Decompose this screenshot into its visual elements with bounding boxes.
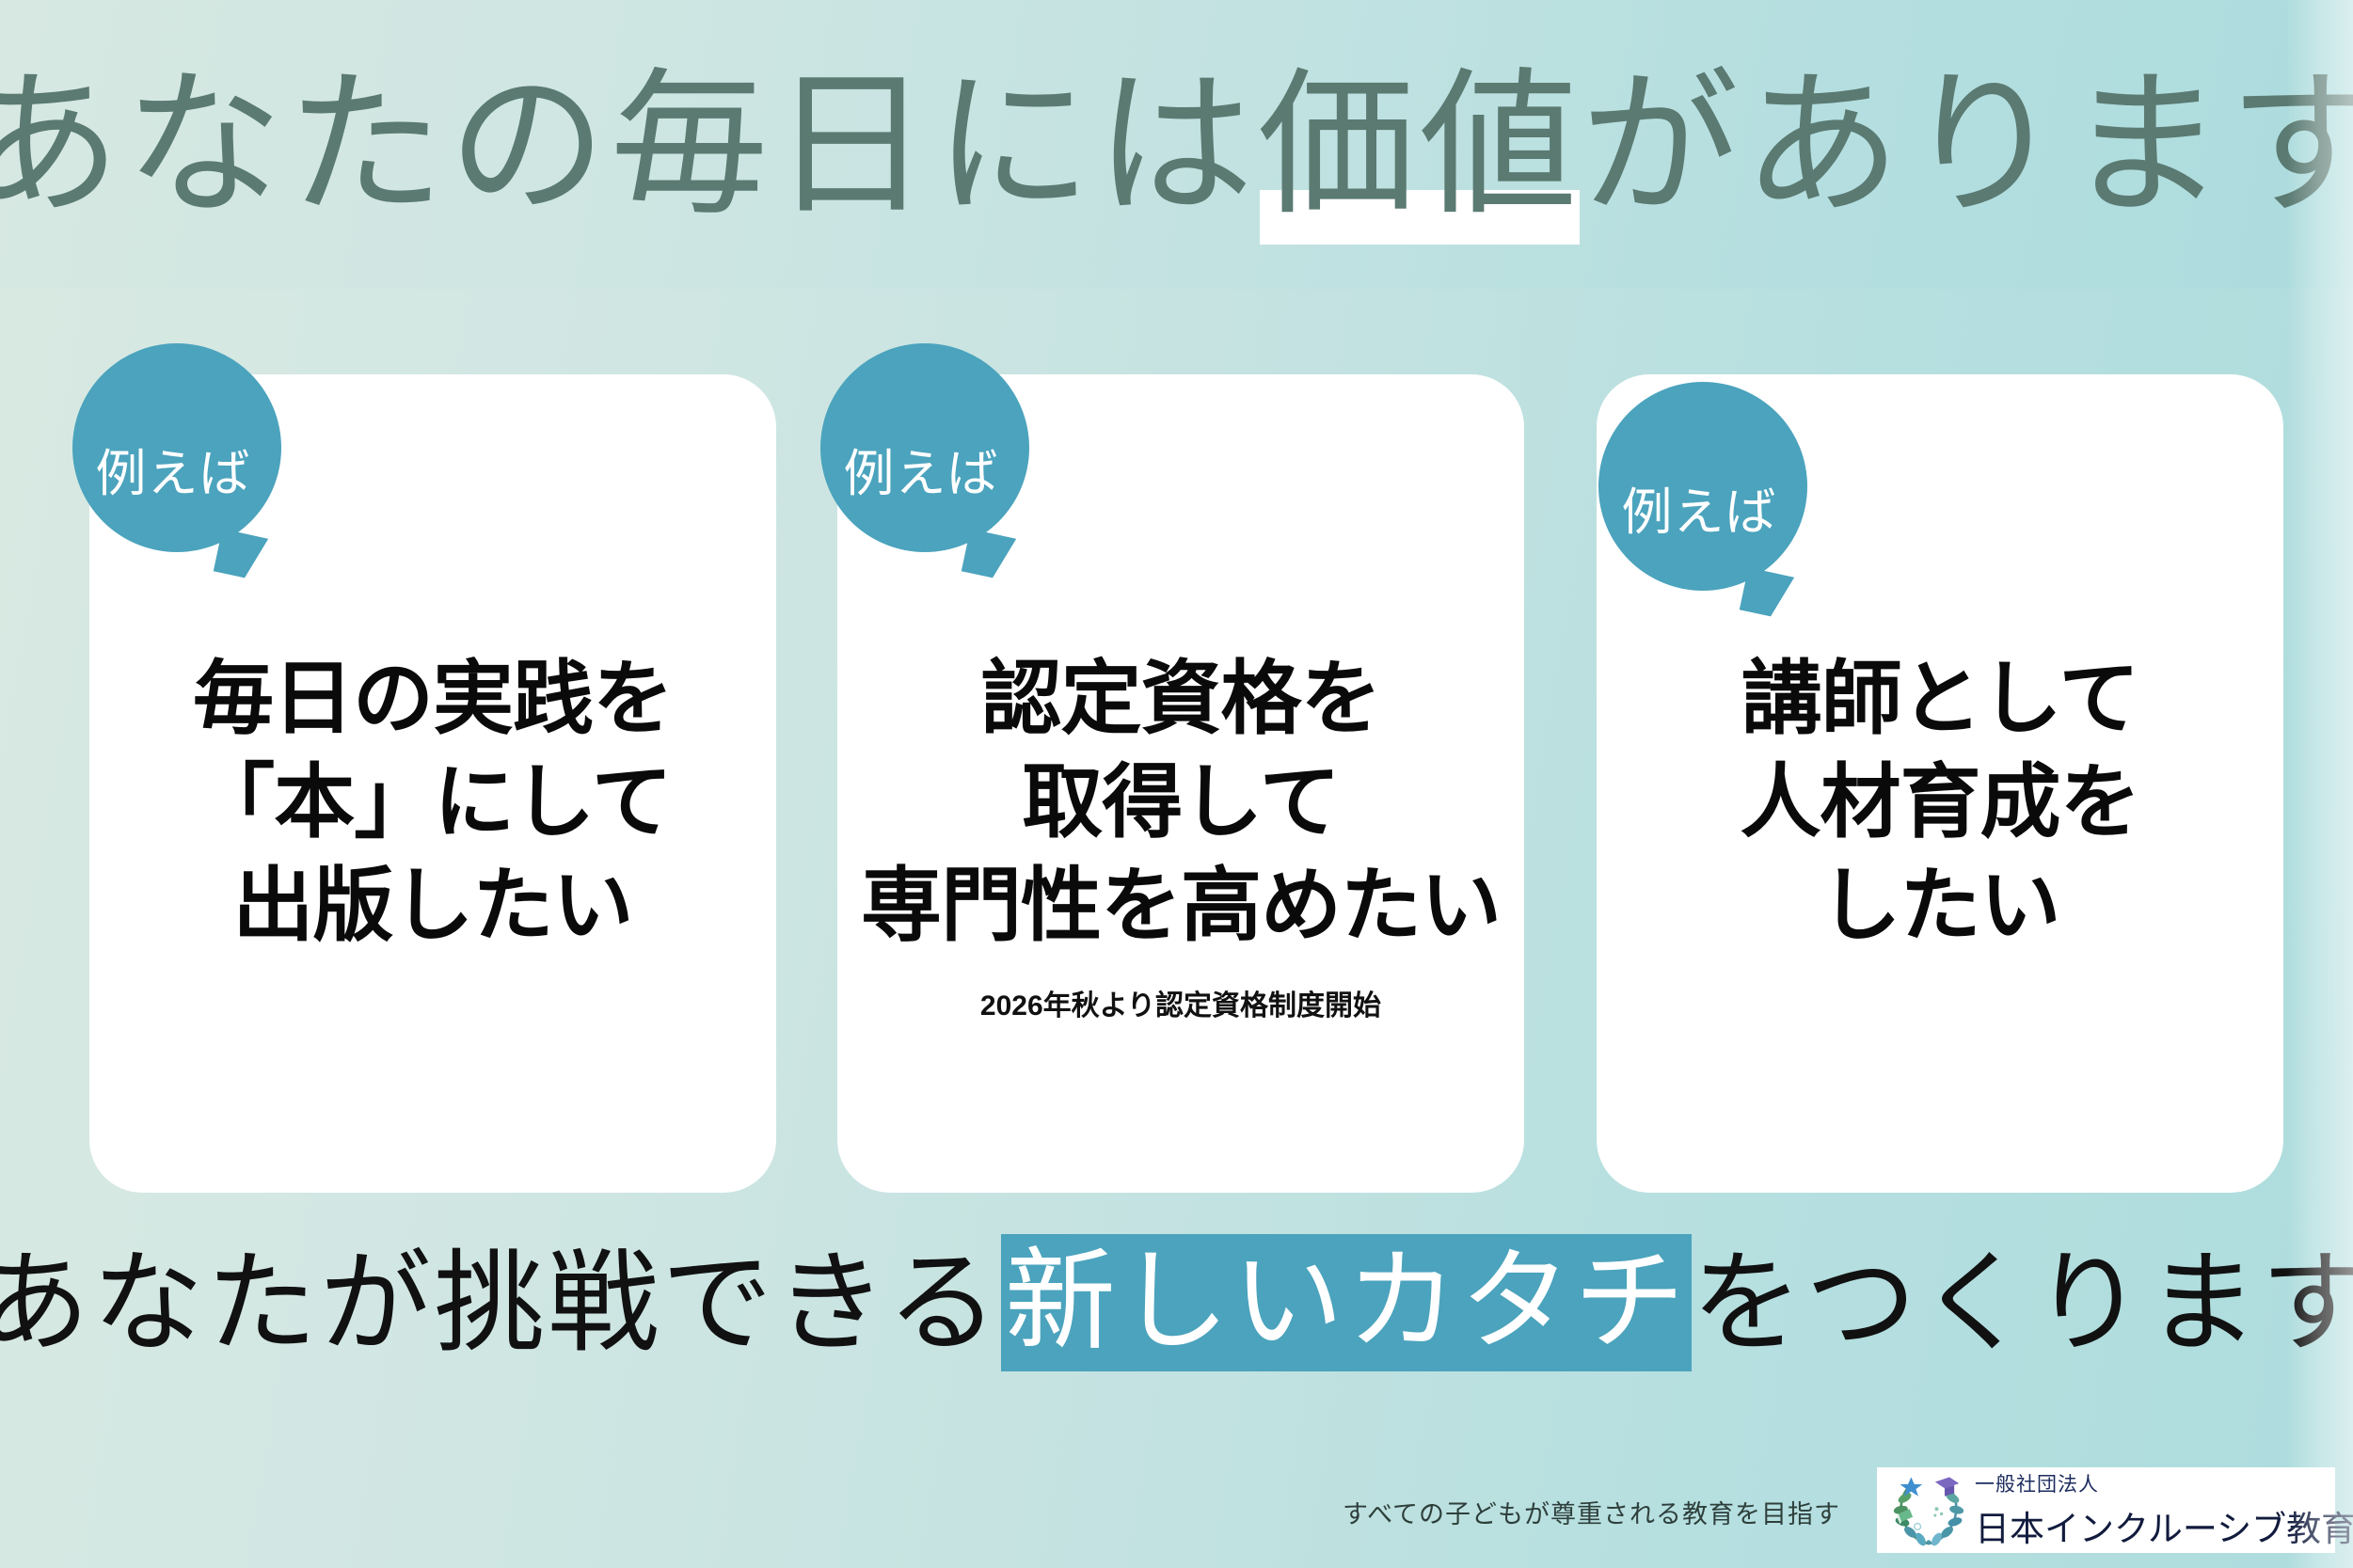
page-title: あなたの毎日には価値があります (0, 0, 2353, 289)
organization-logo[interactable]: 一般社団法人 日本インクルーシブ教育学会 (1877, 1467, 2335, 1553)
bottom-headline-after: をつくります (1692, 1247, 2353, 1358)
footer: すべての子どもが尊重される教育を目指す (0, 1449, 2353, 1568)
speech-bubble-3-label: 例えば (1622, 470, 1777, 545)
laurel-wreath-graduation-cap-icon (1888, 1474, 1969, 1547)
card-3-line-3: したい (1597, 854, 2283, 958)
card-2-note: 2026年秋より認定資格制度開始 (837, 982, 1524, 1023)
bottom-headline-before: あなたが挑戦できる (0, 1247, 1001, 1358)
page-title-before: あなたの毎日には (0, 66, 1258, 224)
speech-bubble-1-label: 例えば (96, 432, 251, 506)
card-1-line-3: 出版したい (89, 854, 776, 958)
speech-bubble-3: 例えば (1598, 382, 1807, 591)
card-1-line-1: 毎日の実践を (89, 647, 776, 751)
organization-logo-subtitle: 一般社団法人 (1975, 1469, 2353, 1497)
speech-bubble-1: 例えば (72, 343, 281, 552)
card-2-line-1: 認定資格を (837, 647, 1524, 751)
page-title-after: があります (1582, 66, 2353, 224)
card-2-line-2: 取得して (837, 751, 1524, 854)
organization-logo-text: 一般社団法人 日本インクルーシブ教育学会 (1975, 1469, 2353, 1551)
card-3-line-1: 講師として (1597, 647, 2283, 751)
card-3-line-2: 人材育成を (1597, 751, 2283, 854)
card-2-line-3: 専門性を高めたい (837, 854, 1524, 958)
footer-tagline: すべての子どもが尊重される教育を目指す (1343, 1494, 1840, 1530)
card-2-body: 認定資格を 取得して 専門性を高めたい 2026年秋より認定資格制度開始 (837, 647, 1524, 1023)
bottom-headline-highlight: 新しいカタチ (1001, 1234, 1692, 1371)
bottom-headline: あなたが挑戦できる新しいカタチをつくります (0, 1223, 2353, 1383)
card-1-line-2: 「本」にして (89, 751, 776, 854)
card-3-body: 講師として 人材育成を したい (1597, 647, 2283, 958)
speech-bubble-2: 例えば (820, 343, 1029, 552)
slide-root: あなたの毎日には価値があります 毎日の実践を 「本」にして 出版したい 認定資格… (0, 0, 2353, 1568)
organization-logo-title: 日本インクルーシブ教育学会 (1975, 1500, 2353, 1551)
card-1-body: 毎日の実践を 「本」にして 出版したい (89, 647, 776, 958)
page-title-highlight: 価値 (1258, 66, 1582, 224)
page-title-highlight-text: 価値 (1258, 53, 1582, 237)
speech-bubble-2-label: 例えば (844, 432, 999, 506)
